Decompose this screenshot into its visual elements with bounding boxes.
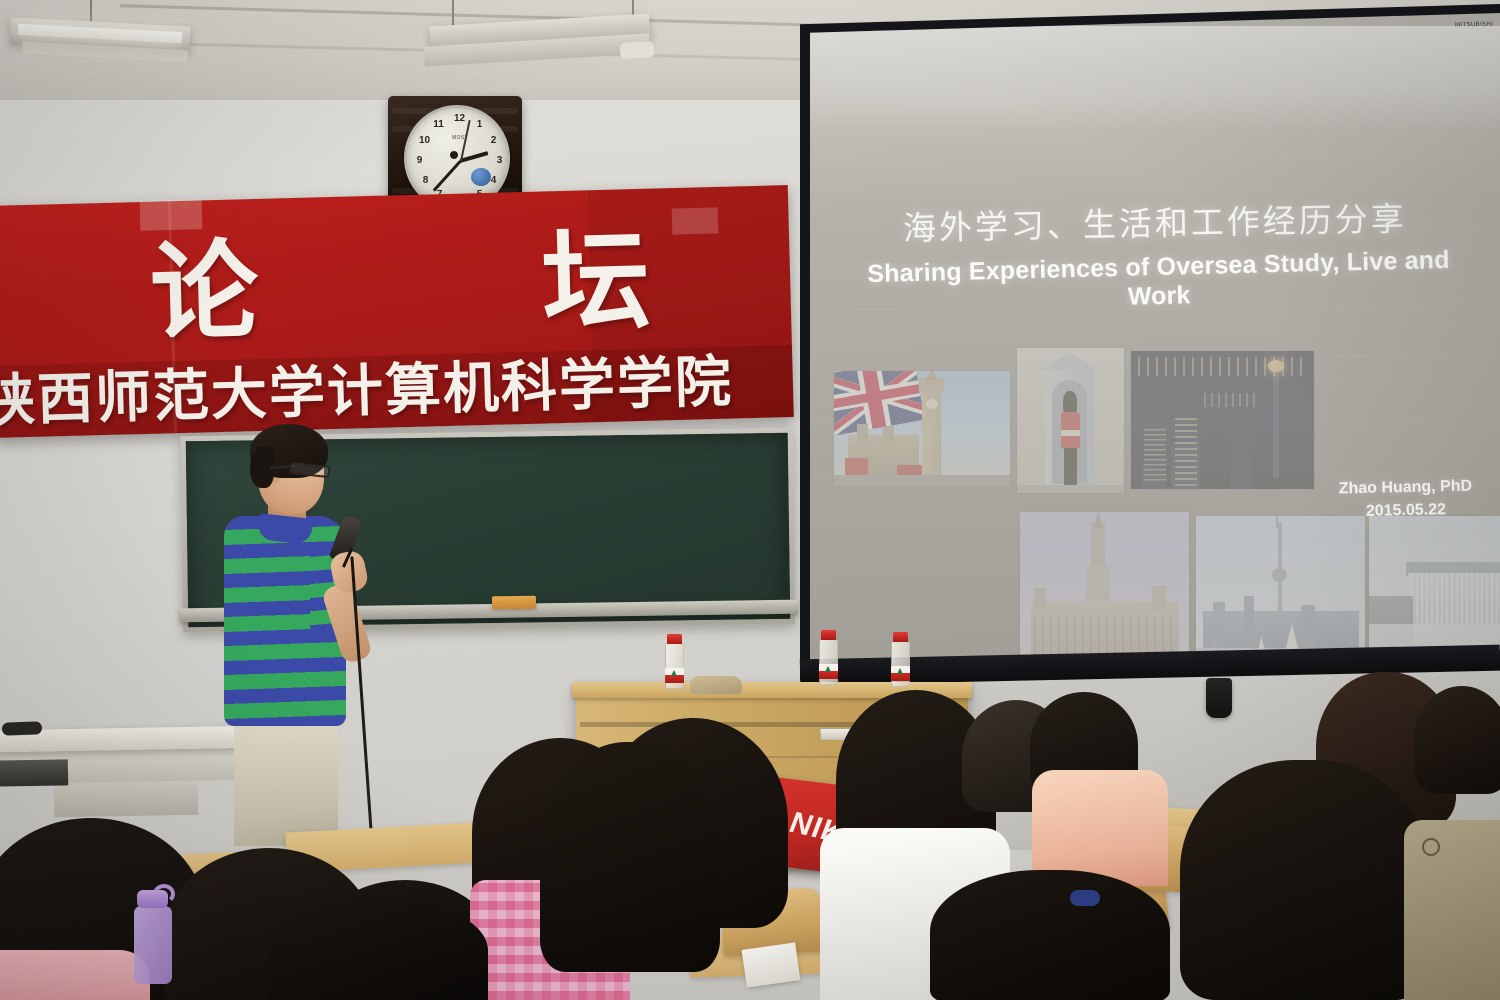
banner-headline: 论 坛 bbox=[119, 216, 682, 359]
projection-screen-frame: 海外学习、生活和工作经历分享 Sharing Experiences of Ov… bbox=[800, 4, 1500, 680]
banner-char-left: 论 bbox=[149, 237, 260, 348]
audience-head-12 bbox=[268, 900, 488, 1000]
light-wire-right-a bbox=[452, 0, 454, 26]
slide-title-english: Sharing Experiences of Oversea Study, Li… bbox=[837, 245, 1480, 319]
audience-peach-shirt bbox=[1032, 770, 1168, 886]
slide-photo-toronto-cn-tower bbox=[1196, 516, 1365, 670]
clock-number: 9 bbox=[413, 156, 426, 166]
av-remote bbox=[2, 721, 42, 735]
banner-tape-left bbox=[140, 199, 203, 231]
hair-tie bbox=[1070, 890, 1100, 906]
water-bottle-left bbox=[664, 634, 686, 692]
slide-title-chinese: 海外学习、生活和工作经历分享 bbox=[865, 191, 1445, 250]
audience-head-11 bbox=[1180, 760, 1430, 1000]
light-wire-left bbox=[90, 0, 92, 22]
side-table-shelf bbox=[54, 781, 199, 818]
av-amplifier bbox=[0, 759, 68, 786]
clock-center-pin bbox=[450, 151, 458, 159]
podium-cap-item bbox=[690, 676, 742, 694]
clock-number: 10 bbox=[418, 136, 431, 146]
light-ballast bbox=[620, 41, 655, 59]
notebook-page bbox=[742, 942, 801, 987]
clock-number: 3 bbox=[493, 156, 506, 166]
purple-water-bottle bbox=[133, 890, 173, 982]
presenter-trousers bbox=[234, 720, 338, 846]
slide-photo-ottawa-parliament bbox=[1020, 512, 1189, 670]
audience-khaki-shirt bbox=[1404, 820, 1500, 1000]
water-bottle-center bbox=[818, 630, 840, 688]
chalk-eraser bbox=[492, 596, 536, 610]
clock-number: 8 bbox=[419, 176, 432, 186]
slide-author-name: Zhao Huang, PhD bbox=[1339, 475, 1473, 501]
slide-photo-uk-flag-big-ben bbox=[834, 371, 1010, 486]
audience-head-13 bbox=[930, 870, 1170, 1000]
presenter bbox=[206, 424, 386, 844]
screen-glare bbox=[810, 26, 1500, 131]
screen-brand-label: MITSUBISHI bbox=[1455, 22, 1495, 29]
banner-tape-right bbox=[672, 207, 719, 234]
eyeglasses-icon-audience bbox=[1422, 838, 1440, 856]
clock-sticker bbox=[471, 168, 491, 186]
clock-number: 11 bbox=[432, 120, 445, 130]
audience-head-14 bbox=[540, 742, 720, 972]
clock-number: 1 bbox=[473, 120, 486, 130]
projection-screen: 海外学习、生活和工作经历分享 Sharing Experiences of Ov… bbox=[810, 13, 1500, 670]
lecture-hall-photo: 12 1 2 3 4 5 6 7 8 9 10 11 MOST 论 坛 陕西师范… bbox=[0, 0, 1500, 1000]
clock-minute-hand bbox=[433, 160, 462, 192]
audience-head-10 bbox=[1414, 686, 1500, 794]
water-bottle-right bbox=[890, 632, 912, 690]
banner-char-right: 坛 bbox=[541, 227, 652, 338]
wall-speaker bbox=[1206, 678, 1232, 718]
slide-photo-london-night-skyline bbox=[1131, 351, 1314, 489]
clock-number: 2 bbox=[487, 136, 500, 146]
slide-photo-queens-guard bbox=[1017, 348, 1124, 493]
clock-number: 12 bbox=[453, 114, 466, 124]
audience-shirt-pink bbox=[0, 950, 150, 1000]
clock-brand-label: MOST bbox=[435, 135, 485, 141]
clock-hour-hand bbox=[459, 151, 488, 163]
